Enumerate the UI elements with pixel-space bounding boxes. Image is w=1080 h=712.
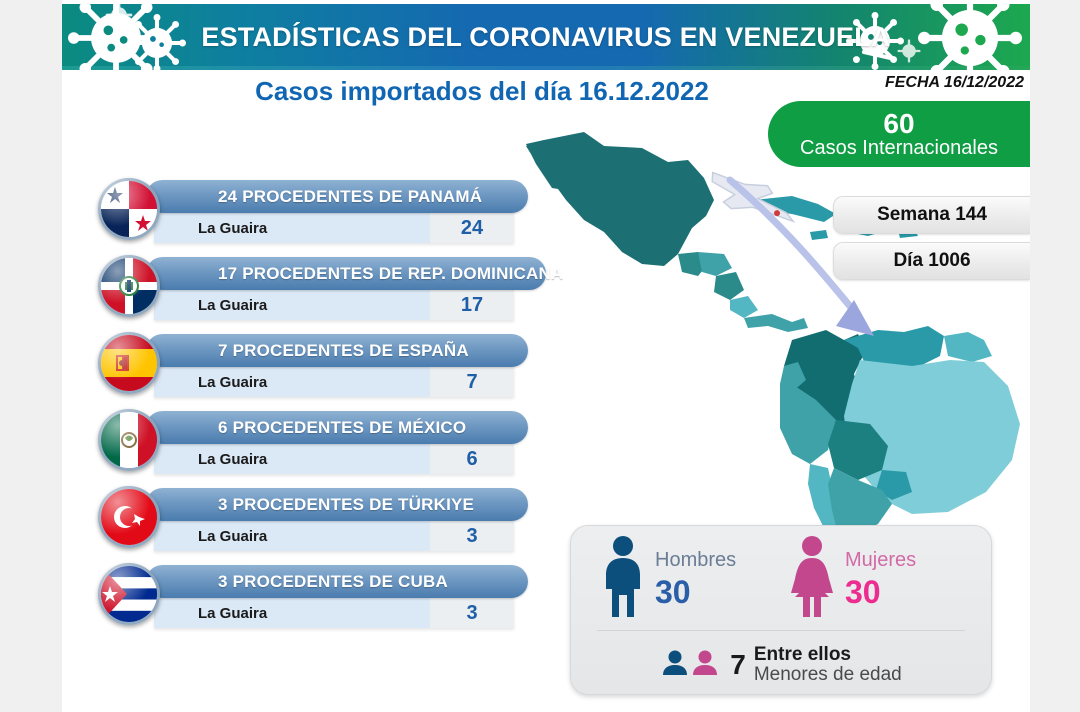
guyanas-shape (944, 332, 992, 362)
date-label: FECHA 16/12/2022 (885, 74, 1024, 92)
gender-panel: Hombres 30 Mujeres (570, 525, 992, 695)
male-label: Hombres (655, 550, 736, 570)
detail-place: La Guaira (154, 220, 430, 237)
country-detail-row: La Guaira 3 (154, 598, 514, 628)
dominican-republic-flag-icon (98, 255, 160, 317)
list-item: 6 PROCEDENTES DE MÉXICO La Guaira 6 (98, 407, 558, 484)
country-detail-row: La Guaira 3 (154, 521, 514, 551)
detail-place: La Guaira (154, 605, 430, 622)
detail-place: La Guaira (154, 451, 430, 468)
male-value: 30 (655, 576, 736, 608)
international-cases-badge: 60 Casos Internacionales (768, 101, 1030, 167)
minors-row: 7 Entre ellos Menores de edad (571, 638, 991, 692)
female-stat: Mujeres 30 (789, 530, 916, 628)
minors-icons (660, 648, 720, 683)
country-title: 6 PROCEDENTES DE MÉXICO (146, 418, 466, 438)
list-item: 3 PROCEDENTES DE TÜRKIYE La Guaira 3 (98, 484, 558, 561)
panama-flag-icon (98, 178, 160, 240)
detail-count: 3 (430, 598, 514, 628)
country-detail-row: La Guaira 17 (154, 290, 514, 320)
list-item: 17 PROCEDENTES DE REP. DOMINICANA La Gua… (98, 253, 558, 330)
latin-america-map (492, 104, 1030, 534)
country-title: 3 PROCEDENTES DE CUBA (146, 572, 448, 592)
detail-count: 3 (430, 521, 514, 551)
cuba-flag-icon (98, 563, 160, 625)
country-bar: 3 PROCEDENTES DE TÜRKIYE (146, 488, 528, 521)
country-title: 7 PROCEDENTES DE ESPAÑA (146, 341, 469, 361)
country-title: 24 PROCEDENTES DE PANAMÁ (146, 187, 482, 207)
turkey-flag-icon (98, 486, 160, 548)
honduras-shape (698, 252, 732, 276)
costarica-shape (730, 296, 758, 318)
country-bar: 6 PROCEDENTES DE MÉXICO (146, 411, 528, 444)
list-item: 7 PROCEDENTES DE ESPAÑA La Guaira 7 (98, 330, 558, 407)
infographic-card: ESTADÍSTICAS DEL CORONAVIRUS EN VENEZUEL… (62, 0, 1030, 712)
female-label: Mujeres (845, 550, 916, 570)
day-pill: Día 1006 (833, 242, 1030, 280)
detail-count: 17 (430, 290, 514, 320)
country-detail-row: La Guaira 24 (154, 213, 514, 243)
country-title: 17 PROCEDENTES DE REP. DOMINICANA (146, 264, 563, 284)
international-cases-label: Casos Internacionales (800, 138, 998, 159)
minors-value: 7 (730, 649, 746, 681)
country-detail-row: La Guaira 6 (154, 444, 514, 474)
detail-count: 7 (430, 367, 514, 397)
male-stat: Hombres 30 (601, 530, 736, 628)
country-title: 3 PROCEDENTES DE TÜRKIYE (146, 495, 474, 515)
nicaragua-shape (714, 272, 744, 300)
spain-flag-icon (98, 332, 160, 394)
detail-count: 24 (430, 213, 514, 243)
female-figure-icon (789, 535, 835, 624)
week-pill: Semana 144 (833, 196, 1030, 234)
minors-line2: Menores de edad (754, 665, 902, 685)
mexico-flag-icon (98, 409, 160, 471)
subtitle: Casos importados del día 16.12.2022 (202, 74, 762, 108)
header-banner: ESTADÍSTICAS DEL CORONAVIRUS EN VENEZUEL… (62, 4, 1030, 70)
detail-place: La Guaira (154, 374, 430, 391)
infographic-page: ESTADÍSTICAS DEL CORONAVIRUS EN VENEZUEL… (0, 0, 1080, 712)
jamaica-shape (810, 230, 828, 240)
country-bar: 7 PROCEDENTES DE ESPAÑA (146, 334, 528, 367)
country-detail-row: La Guaira 7 (154, 367, 514, 397)
detail-place: La Guaira (154, 297, 430, 314)
detail-count: 6 (430, 444, 514, 474)
female-value: 30 (845, 576, 916, 608)
country-bar: 3 PROCEDENTES DE CUBA (146, 565, 528, 598)
male-bust-icon (660, 648, 690, 683)
list-item: 3 PROCEDENTES DE CUBA La Guaira 3 (98, 561, 558, 638)
country-bar: 24 PROCEDENTES DE PANAMÁ (146, 180, 528, 213)
male-figure-icon (601, 535, 645, 624)
minors-line1: Entre ellos (754, 645, 902, 665)
country-list: 24 PROCEDENTES DE PANAMÁ La Guaira 24 (98, 176, 558, 638)
list-item: 24 PROCEDENTES DE PANAMÁ La Guaira 24 (98, 176, 558, 253)
panama-shape (744, 314, 808, 332)
detail-place: La Guaira (154, 528, 430, 545)
page-title: ESTADÍSTICAS DEL CORONAVIRUS EN VENEZUEL… (62, 4, 1030, 70)
gender-row: Hombres 30 Mujeres (571, 530, 991, 628)
international-cases-count: 60 (883, 109, 914, 138)
country-bar: 17 PROCEDENTES DE REP. DOMINICANA (146, 257, 546, 290)
female-bust-icon (690, 648, 720, 683)
panel-divider (597, 630, 965, 631)
